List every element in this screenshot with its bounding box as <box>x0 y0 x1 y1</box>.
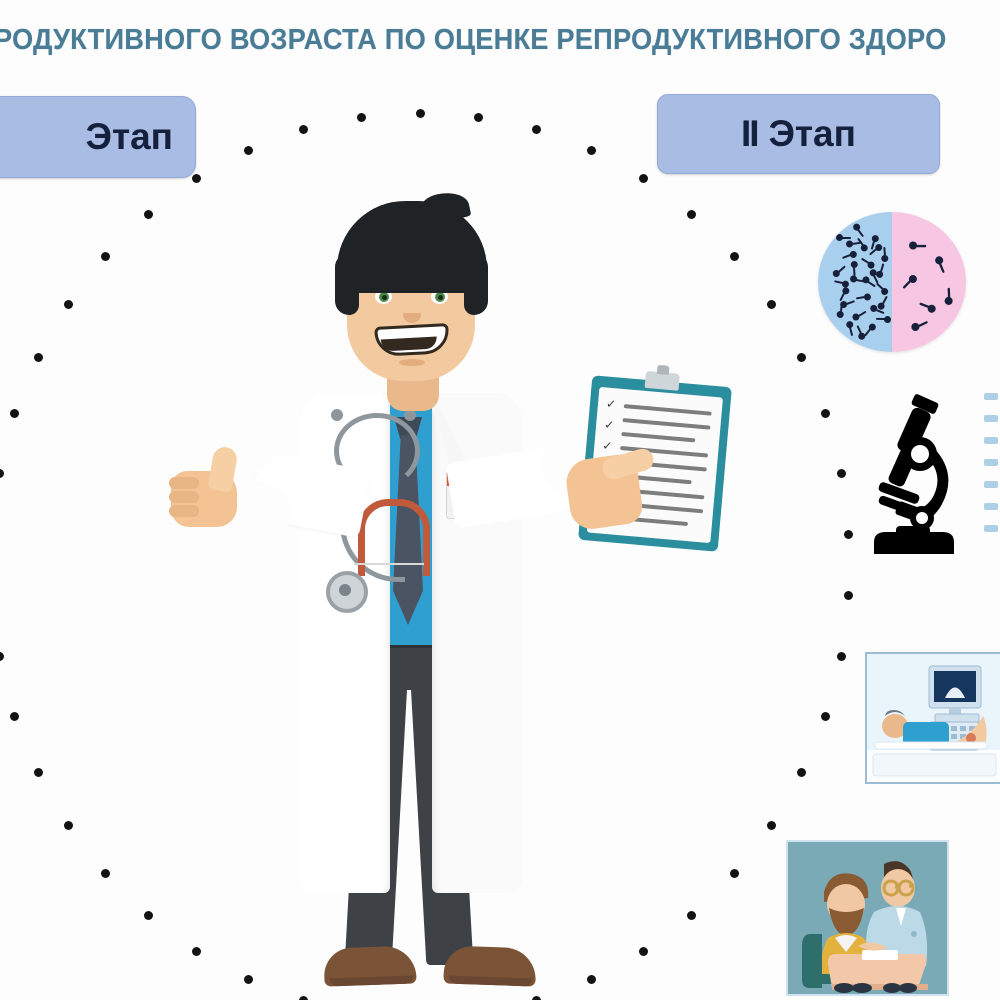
stage-badge-2[interactable]: II Этап <box>657 94 940 174</box>
microscope-glyph <box>860 392 968 562</box>
sperm-cell <box>878 316 891 323</box>
ring-dot <box>821 712 830 721</box>
ring-dot <box>357 113 366 122</box>
doctor-pupil-left <box>379 292 389 302</box>
ring-dot <box>639 174 648 183</box>
doctor-illustration: ✓✓✓ <box>150 185 770 1000</box>
ring-dot <box>587 146 596 155</box>
clipboard-checkmark: ✓ <box>606 399 618 411</box>
ring-dot <box>10 409 19 418</box>
ring-dot <box>821 409 830 418</box>
sperm-cell <box>851 261 859 274</box>
ring-dot <box>34 768 43 777</box>
ring-dot <box>837 469 846 478</box>
doctor-shoe-right <box>443 945 536 986</box>
ring-dot <box>416 109 425 118</box>
clipboard-checkmark: ✓ <box>604 419 616 431</box>
cut-off-text-line <box>984 393 998 400</box>
cut-off-text-line <box>984 481 998 488</box>
thumbs-up-icon <box>165 447 251 531</box>
coat-pocket-line <box>354 563 424 565</box>
ring-dot <box>797 768 806 777</box>
ultrasound-glyph <box>867 654 1000 782</box>
stethoscope-chestpiece <box>326 571 368 613</box>
doctor-shoe-left <box>323 945 416 986</box>
consultation-icon[interactable] <box>786 840 949 996</box>
ring-dot <box>532 125 541 134</box>
stethoscope-earpiece-left <box>331 409 343 421</box>
cut-off-text-line <box>984 525 998 532</box>
ring-dot <box>844 530 853 539</box>
hand-knuckle <box>169 505 199 517</box>
spermogram-icon[interactable] <box>818 212 966 352</box>
slide-canvas: РОДУКТИВНОГО ВОЗРАСТА ПО ОЦЕНКЕ РЕПРОДУК… <box>0 0 1000 1000</box>
ring-dot <box>837 652 846 661</box>
ring-dot <box>474 113 483 122</box>
ring-dot <box>0 652 4 661</box>
slide-title-bar: РОДУКТИВНОГО ВОЗРАСТА ПО ОЦЕНКЕ РЕПРОДУК… <box>0 20 1000 60</box>
ring-dot <box>844 591 853 600</box>
microscope-icon[interactable] <box>860 392 968 562</box>
ring-dot <box>0 469 4 478</box>
stage-badge-2-label: Этап <box>769 113 856 155</box>
ring-dot <box>244 146 253 155</box>
clipboard-checkmark: ✓ <box>602 440 614 452</box>
sperm-cell <box>880 249 888 263</box>
ultrasound-icon[interactable] <box>865 652 1000 784</box>
cut-off-text-line <box>984 459 998 466</box>
doctor-pupil-right <box>435 292 445 302</box>
ring-dot <box>101 252 110 261</box>
consultation-glyph <box>788 842 947 994</box>
ring-dot <box>101 869 110 878</box>
cut-off-text-list <box>984 393 1000 573</box>
sperm-cell <box>944 290 953 305</box>
cut-off-text-line <box>984 437 998 444</box>
cut-off-text-line <box>984 503 998 510</box>
ring-dot <box>299 125 308 134</box>
clipboard-clip <box>645 371 680 391</box>
sperm-cell <box>909 241 924 249</box>
page-title: РОДУКТИВНОГО ВОЗРАСТА ПО ОЦЕНКЕ РЕПРОДУК… <box>0 24 946 57</box>
doctor-head <box>325 201 500 406</box>
ring-dot <box>34 353 43 362</box>
cut-off-text-line <box>984 415 998 422</box>
ring-dot <box>10 712 19 721</box>
ring-dot <box>64 821 73 830</box>
ring-dot <box>64 300 73 309</box>
ring-dot <box>192 174 201 183</box>
hand-knuckle <box>169 477 199 489</box>
hand-knuckle <box>169 491 199 503</box>
stage-badge-1[interactable]: Этап <box>0 96 196 178</box>
stage-badge-1-label: Этап <box>86 116 173 158</box>
doctor-chin <box>399 359 425 366</box>
ring-dot <box>797 353 806 362</box>
stage-badge-2-roman: II <box>741 113 758 155</box>
